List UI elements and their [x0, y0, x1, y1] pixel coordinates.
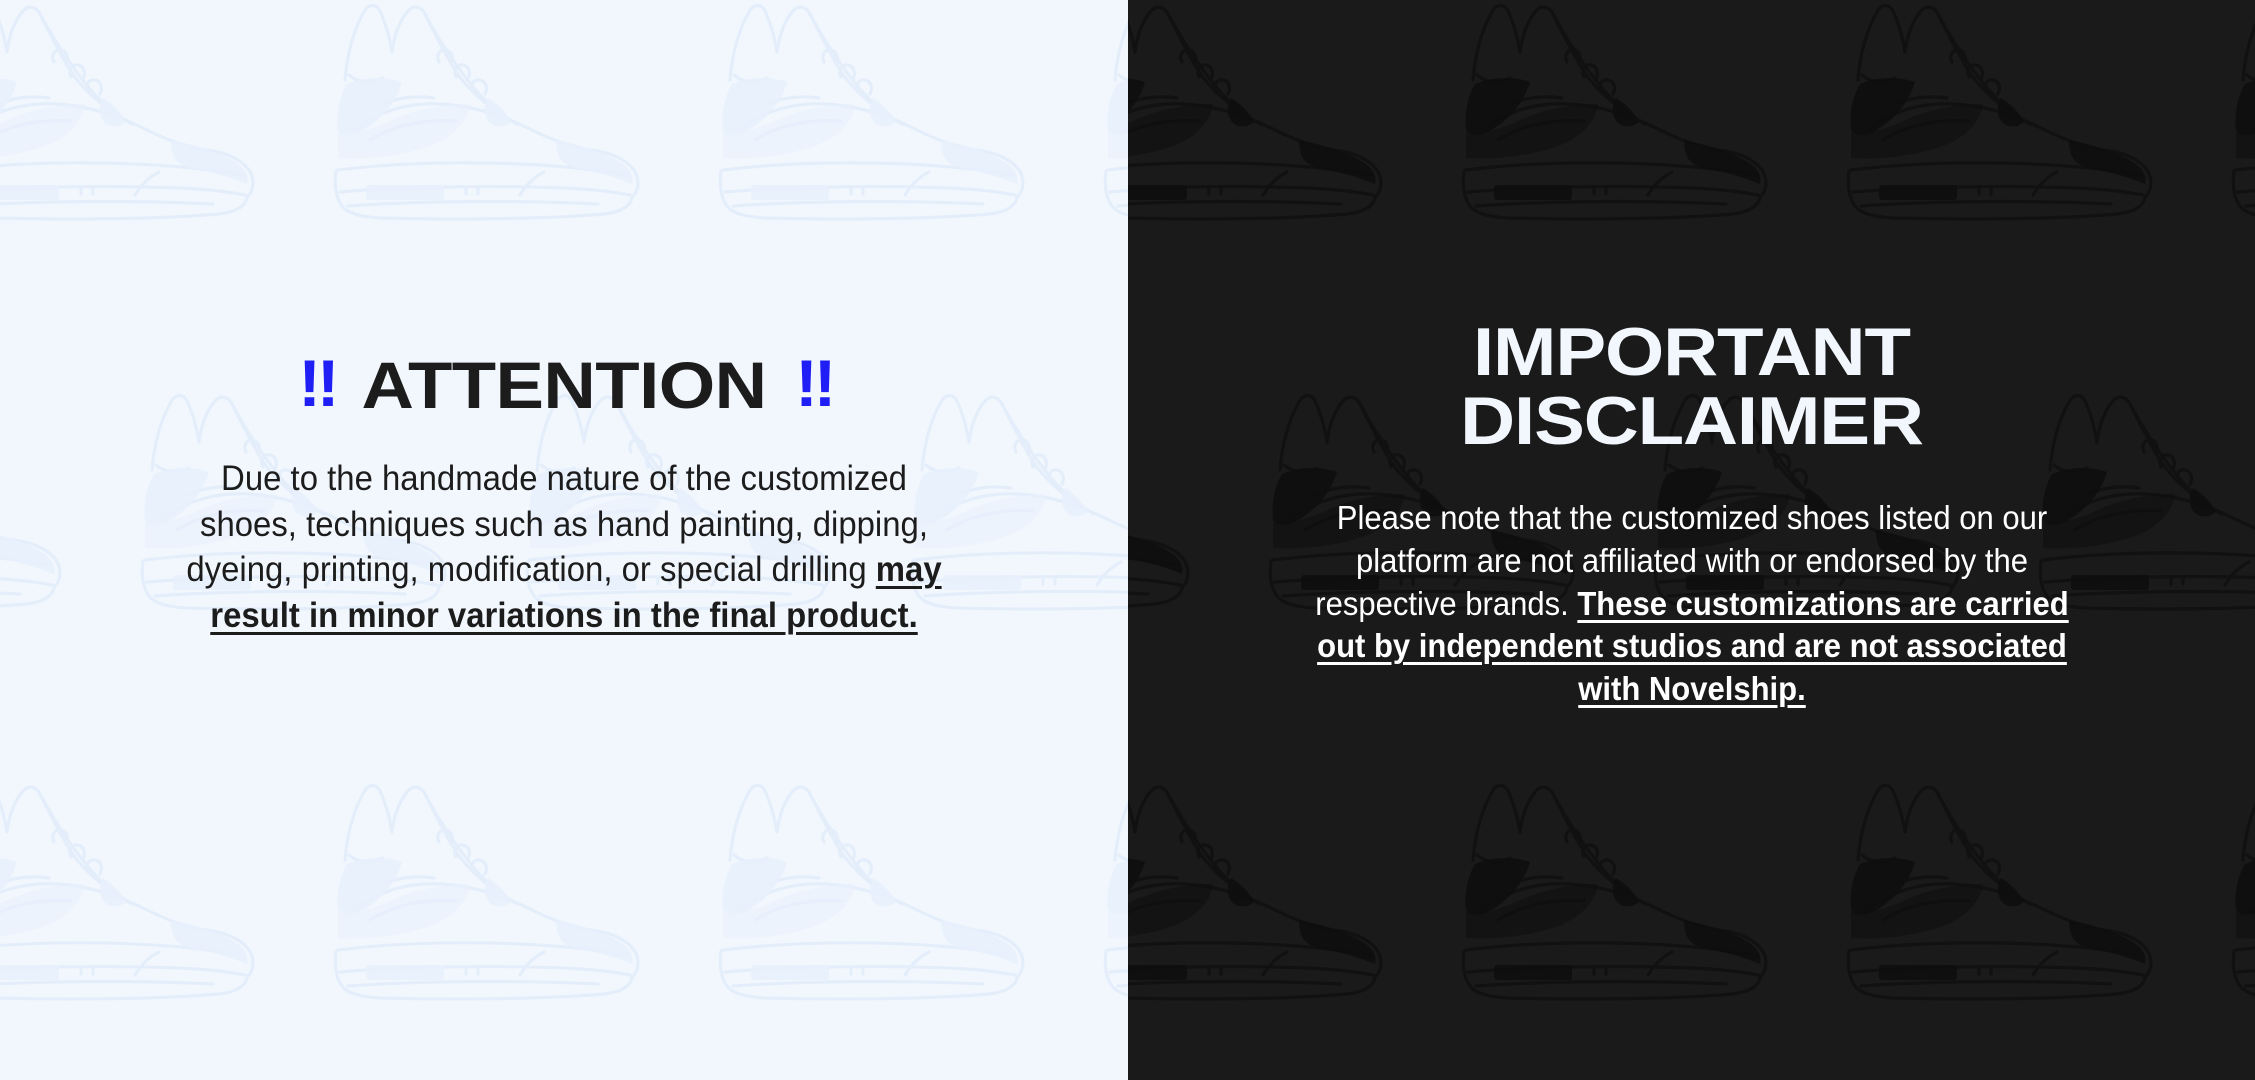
- disclaimer-panel: IMPORTANT DISCLAIMER Please note that th…: [1128, 0, 2255, 1080]
- sneaker-pattern-row: [0, 760, 1128, 1028]
- attention-body-normal: Due to the handmade nature of the custom…: [186, 459, 928, 589]
- attention-heading-text: ATTENTION: [361, 352, 766, 418]
- sneaker-icon: [318, 760, 703, 1028]
- disclaimer-heading-line-2: DISCLAIMER: [1460, 387, 1923, 456]
- disclaimer-body: Please note that the customized shoes li…: [1311, 497, 2072, 711]
- disclaimer-banner: ‼ ATTENTION ‼ Due to the handmade nature…: [0, 0, 2255, 1080]
- double-exclamation-right-icon: ‼: [795, 352, 830, 418]
- attention-heading: ‼ ATTENTION ‼: [21, 352, 1108, 418]
- sneaker-icon: [1088, 760, 1129, 1028]
- attention-content: ‼ ATTENTION ‼ Due to the handmade nature…: [0, 0, 1128, 638]
- disclaimer-content: IMPORTANT DISCLAIMER Please note that th…: [1128, 0, 2255, 711]
- disclaimer-heading-line-1: IMPORTANT: [1473, 318, 1910, 387]
- sneaker-icon: [1831, 760, 2216, 1028]
- sneaker-icon: [1128, 760, 1446, 1028]
- double-exclamation-left-icon: ‼: [298, 352, 333, 418]
- attention-panel: ‼ ATTENTION ‼ Due to the handmade nature…: [0, 0, 1128, 1080]
- sneaker-pattern-row: [1128, 760, 2255, 1028]
- sneaker-icon: [703, 760, 1088, 1028]
- disclaimer-heading: IMPORTANT DISCLAIMER: [1139, 318, 2244, 457]
- attention-body: Due to the handmade nature of the custom…: [179, 456, 950, 638]
- sneaker-icon: [0, 760, 318, 1028]
- sneaker-icon: [1446, 760, 1831, 1028]
- sneaker-icon: [2216, 760, 2255, 1028]
